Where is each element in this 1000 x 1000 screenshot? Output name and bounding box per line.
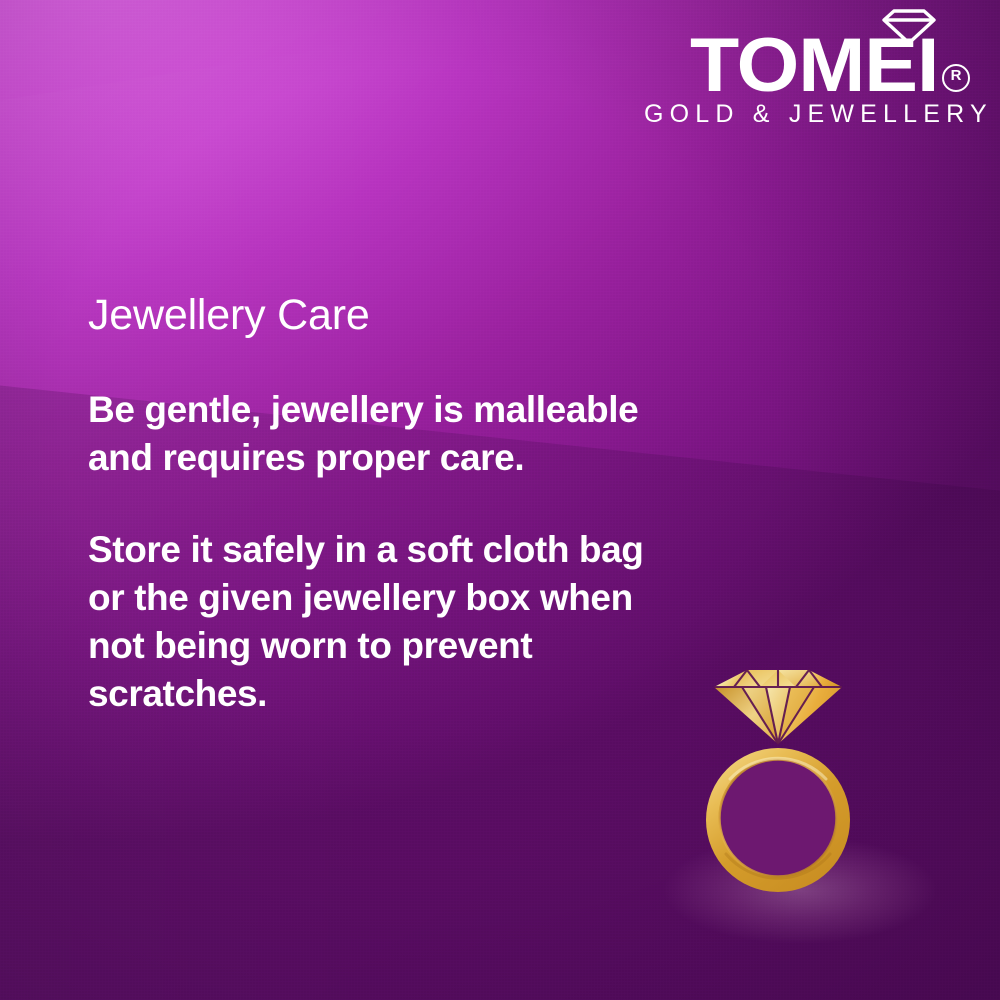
poster-canvas: TOMEI R GOLD & JEWELLERY Jewellery Care … [0, 0, 1000, 1000]
brand-wordmark: TOMEI [690, 28, 938, 104]
body-paragraph-2: Store it safely in a soft cloth bag or t… [88, 526, 648, 718]
ring-svg [700, 640, 890, 910]
diamond-ring-illustration [700, 640, 890, 910]
copy-block: Jewellery Care Be gentle, jewellery is m… [88, 290, 648, 718]
page-title: Jewellery Care [88, 290, 648, 340]
body-paragraph-1: Be gentle, jewellery is malleable and re… [88, 386, 648, 482]
brand-logo: TOMEI R GOLD & JEWELLERY [644, 6, 974, 128]
logo-mark-row: TOMEI R [644, 6, 974, 98]
ring-band-icon [706, 748, 850, 892]
diamond-gem-icon [714, 670, 842, 744]
registered-trademark-icon: R [942, 64, 970, 92]
